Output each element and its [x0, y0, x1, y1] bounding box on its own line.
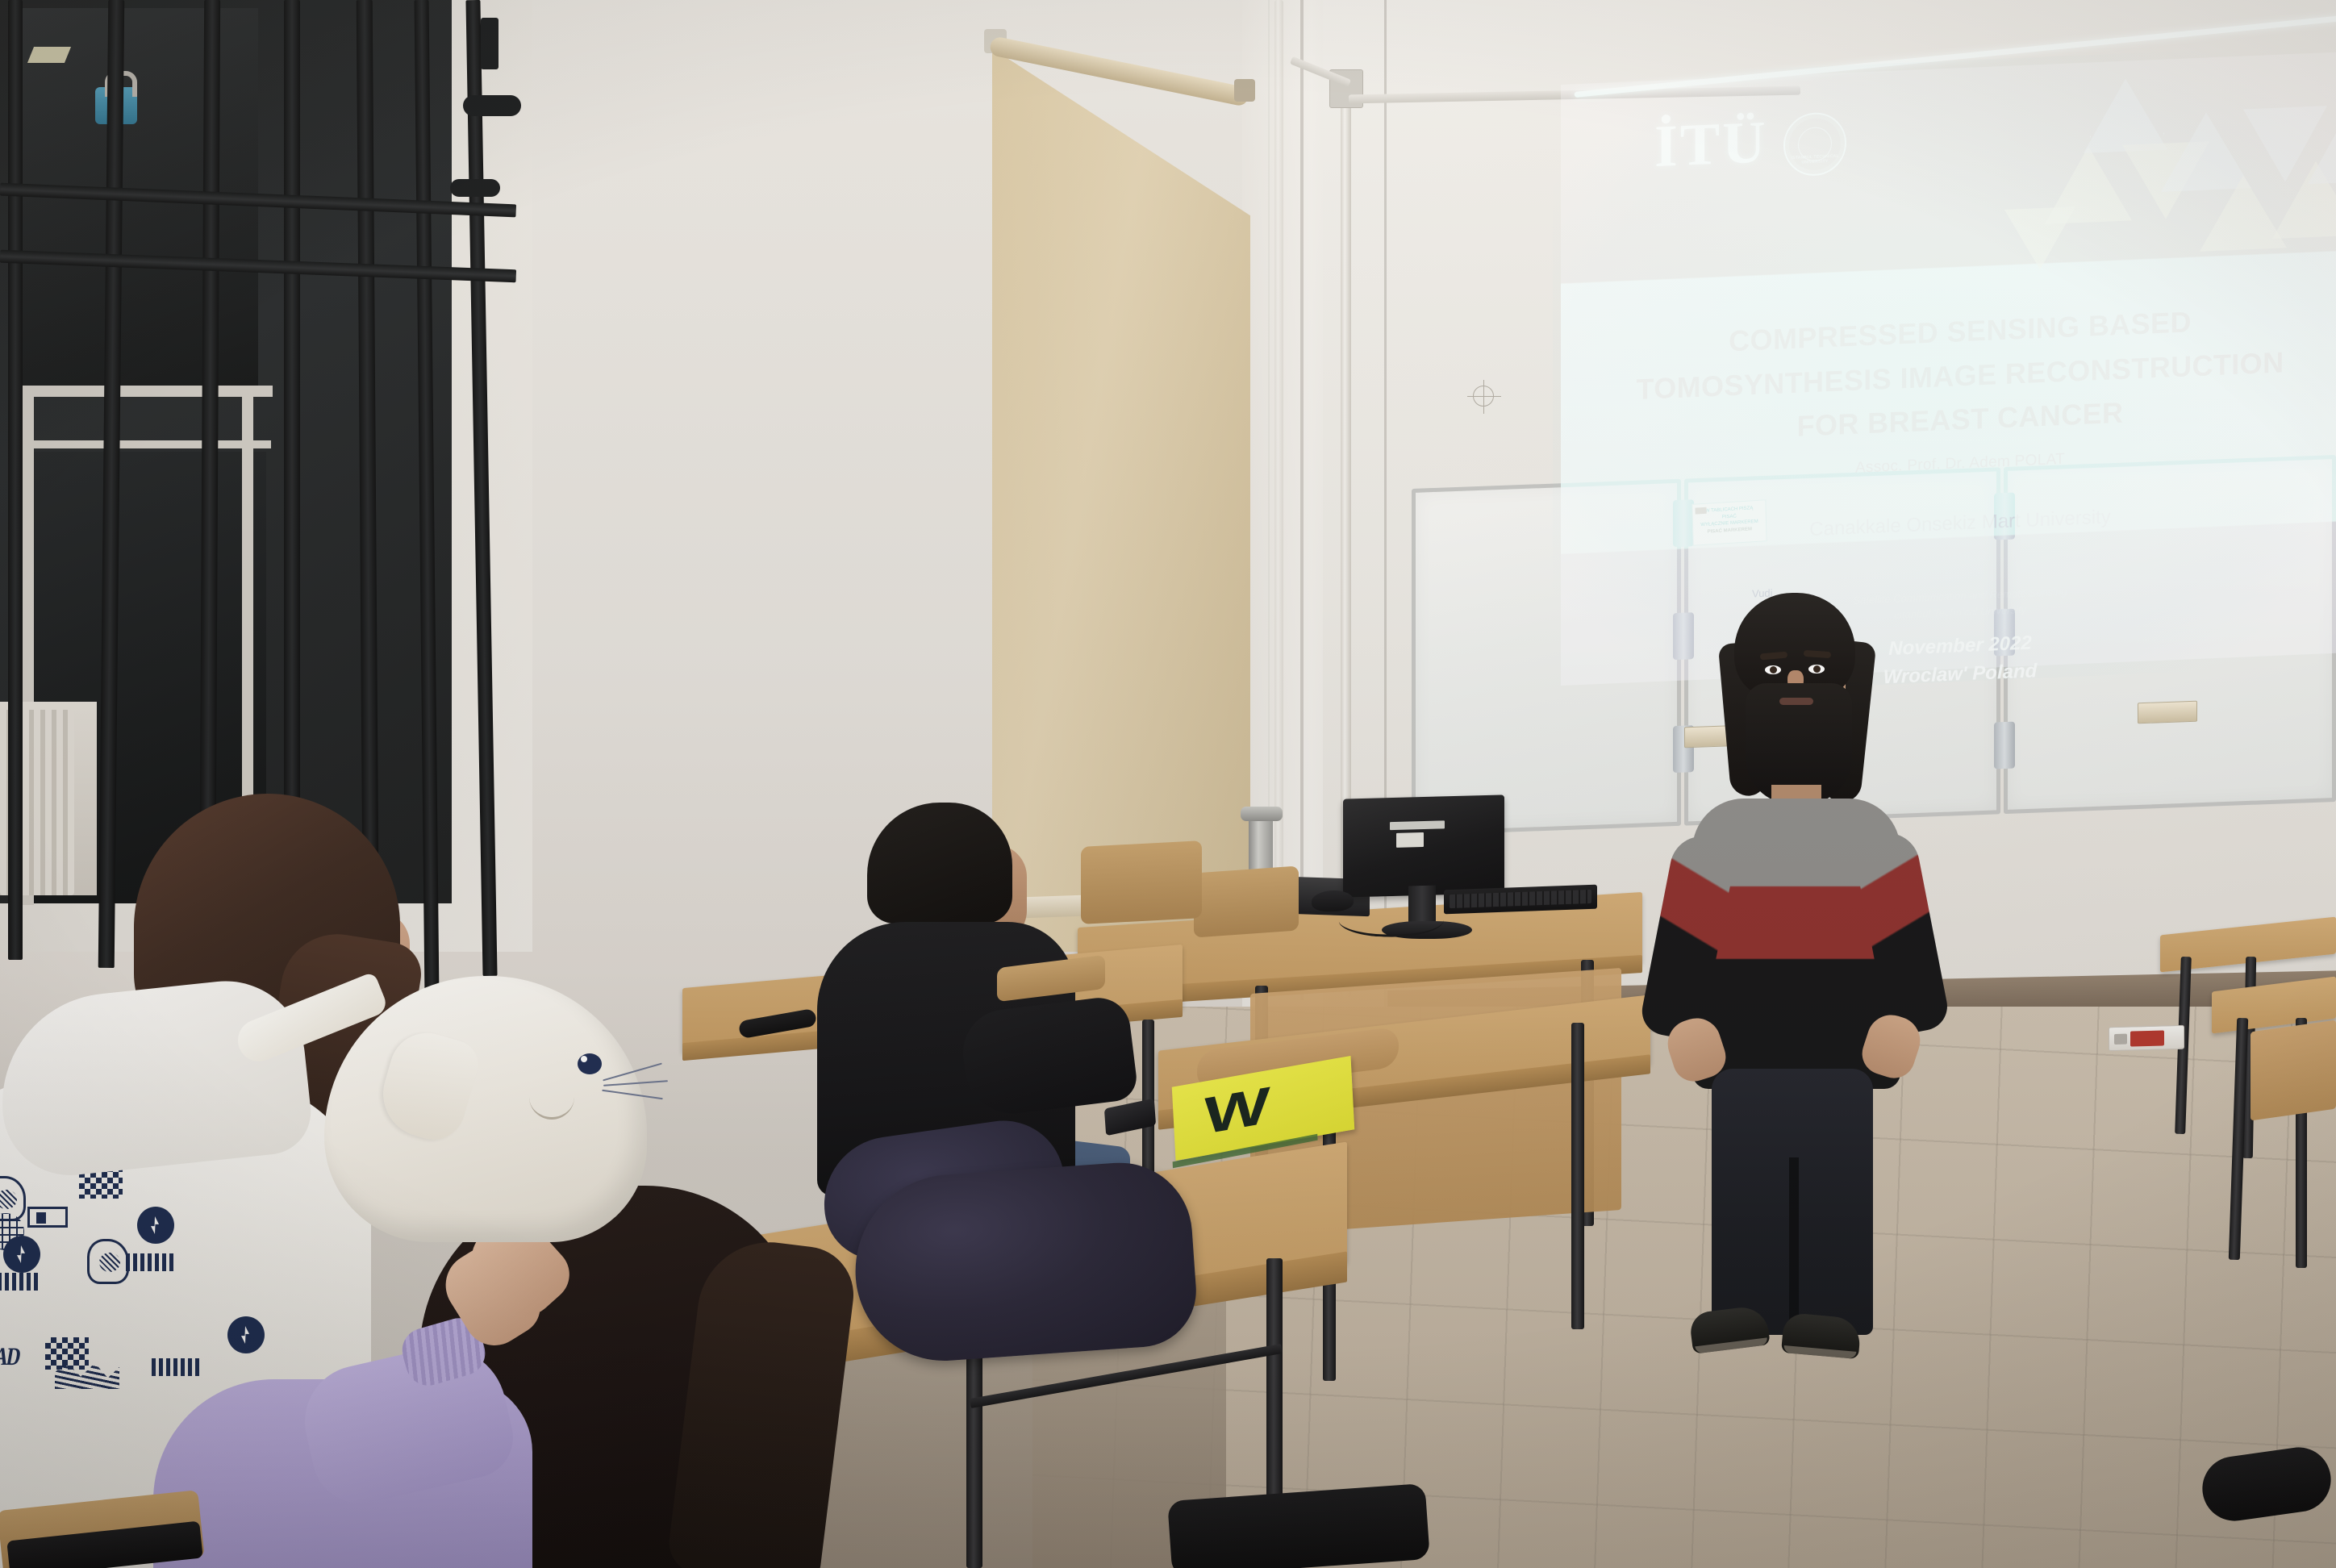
monitor-asset-label: [1390, 820, 1445, 830]
geo-triangle: [2308, 110, 2336, 184]
monitor-asset-tag: [1396, 832, 1424, 848]
wall-conduit: [1274, 0, 1283, 984]
hoodie-print-circle: [227, 1316, 265, 1353]
itu-logo: İTÜ: [1654, 108, 1768, 181]
desk-leg: [966, 1339, 982, 1568]
wall-seam: [1300, 0, 1304, 1000]
student-male-hair: [867, 803, 1012, 924]
projected-slide: İTÜ ISTANBUL TECHNICAL UNIVERSITY COMPRE…: [1561, 52, 2336, 686]
presenter-eye-right: [1808, 665, 1825, 673]
outlet-socket-red: [2130, 1030, 2164, 1046]
student-with-plush-hat: [339, 976, 871, 1568]
window-mullion: [29, 440, 271, 448]
hoodie-print-bars: [0, 1273, 40, 1291]
hat-eye-icon: [578, 1053, 602, 1074]
presenter-leg-gap: [1789, 1157, 1799, 1335]
power-outlet-icon: [2109, 1025, 2184, 1051]
hoodie-print-checker: [45, 1337, 89, 1370]
hoodie-print-bars: [126, 1253, 176, 1271]
chair-backrest: [1194, 865, 1299, 937]
bar-bracket: [450, 179, 500, 197]
wall-registration-mark: [1473, 386, 1494, 407]
hoodie-print-text: MEAD: [0, 1344, 21, 1372]
hoodie-print-circle: [137, 1207, 174, 1244]
classroom-photo-scene: W TABLICACH PISZĄ PISAĆ WYŁĄCZNIE MARKER…: [0, 0, 2336, 1568]
hoodie-print-head: [87, 1239, 129, 1284]
desk-leg: [1571, 1023, 1584, 1329]
desk-post-cap: [1241, 807, 1283, 821]
screen-mount-right: [1234, 79, 1255, 102]
geo-triangle: [2004, 206, 2075, 271]
chair-backrest: [1081, 840, 1202, 924]
slide-geometric-decoration: [1988, 57, 2336, 315]
presenter-mouth: [1779, 698, 1813, 705]
presenter-eye-left: [1765, 665, 1781, 674]
window-reflection: [27, 47, 71, 63]
whiteboard-hinge: [1994, 722, 2015, 769]
window-mullion: [15, 386, 273, 397]
whiteboard-eraser: [2138, 701, 2197, 724]
jacket-on-desk: [849, 1158, 1199, 1367]
bar-bracket: [463, 95, 521, 116]
hoodie-print-rect: [27, 1207, 68, 1228]
presenter: [1637, 593, 1944, 1343]
bar-bracket: [481, 18, 498, 69]
student-hoodie-hood: [0, 974, 315, 1182]
yellow-card-glyph: W: [1203, 1084, 1270, 1137]
hoodie-print-bars: [152, 1358, 202, 1376]
monitor-icon: [1343, 794, 1504, 897]
outlet-socket: [2114, 1034, 2127, 1045]
desk-modesty-panel: [2250, 1020, 2336, 1121]
